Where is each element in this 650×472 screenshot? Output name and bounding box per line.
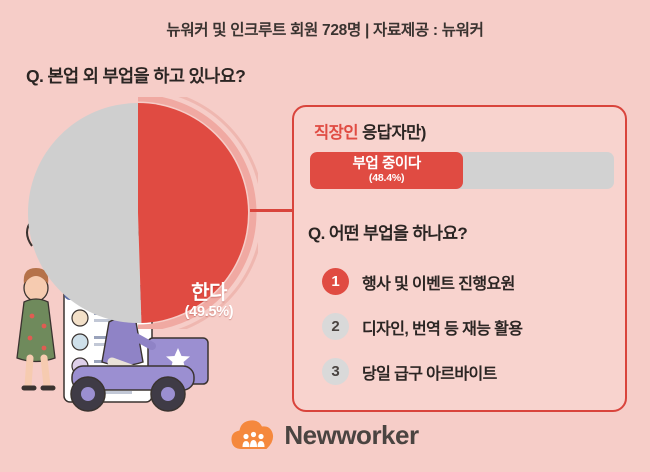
list-item: 2디자인, 번역 등 재능 활용: [322, 304, 622, 349]
cloud-people-icon: [231, 419, 275, 452]
source-caption: 뉴워커 및 인크루트 회원 728명 | 자료제공 : 뉴워커: [0, 18, 650, 40]
rank-text: 행사 및 이벤트 진행요원: [362, 270, 515, 294]
callout-connector-line: [250, 209, 294, 212]
progress-bar-percent: (48.4%): [369, 173, 404, 184]
rank-text: 디자인, 번역 등 재능 활용: [362, 315, 522, 339]
progress-bar-track: 부업 중이다 (48.4%): [310, 152, 614, 189]
list-item: 1행사 및 이벤트 진행요원: [322, 259, 622, 304]
pie-slice-label-name: 한다: [164, 283, 254, 305]
ranked-answer-list: 1행사 및 이벤트 진행요원2디자인, 번역 등 재능 활용3당일 급구 아르바…: [322, 259, 622, 394]
pie-slice-no: [28, 103, 141, 323]
brand-logo-text: Newworker: [284, 420, 418, 451]
list-item: 3당일 급구 아르바이트: [322, 349, 622, 394]
rank-badge: 3: [322, 358, 349, 385]
panel-title-highlight: 직장인: [314, 124, 358, 142]
rank-text: 당일 급구 아르바이트: [362, 360, 497, 384]
pie-slice-label-value: (49.5%): [164, 305, 254, 321]
progress-bar-label: 부업 중이다: [352, 157, 420, 172]
page-title: Q. 본업 외 부업을 하고 있나요?: [26, 63, 245, 88]
pie-slice-label: 한다 (49.5%): [164, 283, 254, 320]
sub-question: Q. 어떤 부업을 하나요?: [308, 219, 467, 244]
progress-bar-fill: 부업 중이다 (48.4%): [310, 152, 463, 189]
rank-badge: 1: [322, 268, 349, 295]
pie-chart: 한다 (49.5%): [18, 97, 258, 329]
detail-panel: 직장인 응답자만) 부업 중이다 (48.4%) Q. 어떤 부업을 하나요? …: [292, 105, 627, 412]
rank-badge: 2: [322, 313, 349, 340]
panel-title: 직장인 응답자만): [314, 119, 426, 143]
brand-logo: Newworker: [0, 419, 650, 452]
panel-title-rest: 응답자만): [358, 124, 426, 142]
infographic-canvas: 뉴워커 및 인크루트 회원 728명 | 자료제공 : 뉴워커 Q. 본업 외 …: [0, 0, 650, 472]
